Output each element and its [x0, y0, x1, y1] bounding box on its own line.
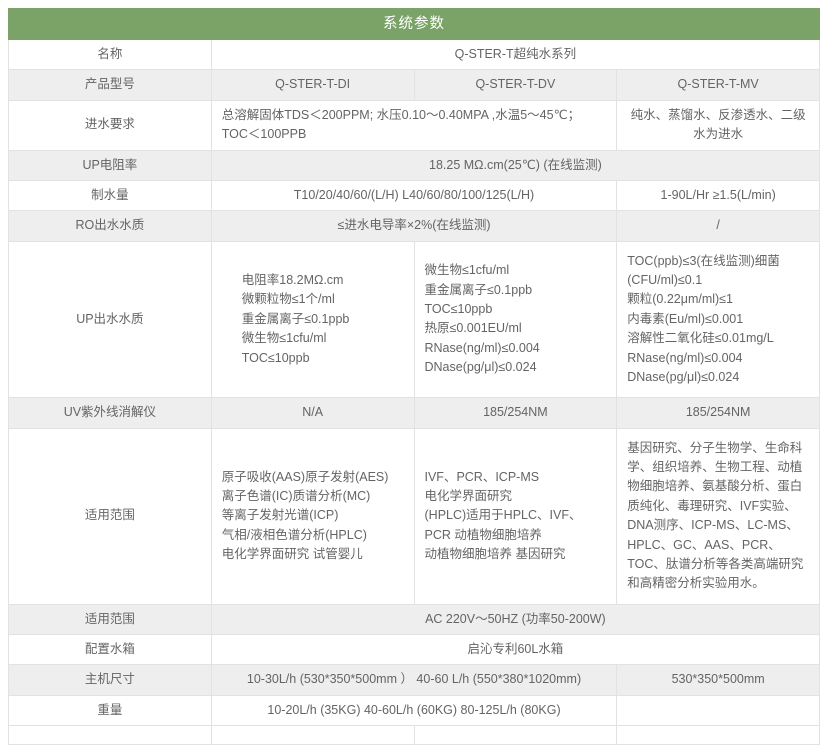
- cell-inflow-di-dv: 总溶解固体TDS＜200PPM; 水压0.10～0.40MPA ,水温5～45℃…: [211, 100, 617, 150]
- row-value-tank: 启沁专利60L水箱: [211, 635, 819, 665]
- row-label-tank: 配置水箱: [9, 635, 212, 665]
- system-parameters-table: 系统参数 名称 Q-STER-T超纯水系列 产品型号 Q-STER-T-DI Q…: [8, 8, 820, 745]
- partial-cell-dv: [414, 726, 617, 745]
- table-row: 名称 Q-STER-T超纯水系列: [9, 40, 820, 70]
- cell-model-di: Q-STER-T-DI: [211, 70, 414, 100]
- partial-cell-label: [9, 726, 212, 745]
- cell-scope-di: 原子吸收(AAS)原子发射(AES) 离子色谱(IC)质谱分析(MC) 等离子发…: [211, 428, 414, 604]
- row-label-name: 名称: [9, 40, 212, 70]
- table-row: RO出水水质 ≤进水电导率×2%(在线监测) /: [9, 211, 820, 241]
- cell-up-quality-mv: TOC(ppb)≤3(在线监测)细菌 (CFU/ml)≤0.1 颗粒(0.22μ…: [617, 241, 820, 398]
- cell-uv-dv: 185/254NM: [414, 398, 617, 428]
- table-title-row: 系统参数: [9, 9, 820, 40]
- row-value-power: AC 220V～50HZ (功率50-200W): [211, 604, 819, 634]
- row-label-weight: 重量: [9, 695, 212, 725]
- row-label-power: 适用范围: [9, 604, 212, 634]
- row-label-output: 制水量: [9, 180, 212, 210]
- cell-inflow-mv: 纯水、蒸馏水、反渗透水、二级水为进水: [617, 100, 820, 150]
- row-label-dimensions: 主机尺寸: [9, 665, 212, 695]
- table-row: 适用范围 原子吸收(AAS)原子发射(AES) 离子色谱(IC)质谱分析(MC)…: [9, 428, 820, 604]
- row-label-model: 产品型号: [9, 70, 212, 100]
- row-label-ro-quality: RO出水水质: [9, 211, 212, 241]
- cell-output-mv: 1-90L/Hr ≥1.5(L/min): [617, 180, 820, 210]
- cell-uv-mv: 185/254NM: [617, 398, 820, 428]
- cell-up-quality-dv: 微生物≤1cfu/ml 重金属离子≤0.1ppb TOC≤10ppb 热原≤0.…: [414, 241, 617, 398]
- row-label-scope: 适用范围: [9, 428, 212, 604]
- cell-ro-quality-mv: /: [617, 211, 820, 241]
- row-label-inflow: 进水要求: [9, 100, 212, 150]
- table-row: 主机尺寸 10-30L/h (530*350*500mm ） 40-60 L/h…: [9, 665, 820, 695]
- cell-model-dv: Q-STER-T-DV: [414, 70, 617, 100]
- cell-model-mv: Q-STER-T-MV: [617, 70, 820, 100]
- row-label-up-resistivity: UP电阻率: [9, 150, 212, 180]
- cell-scope-dv: IVF、PCR、ICP-MS 电化学界面研究 (HPLC)适用于HPLC、IVF…: [414, 428, 617, 604]
- cell-weight-mv: [617, 695, 820, 725]
- cell-uv-di: N/A: [211, 398, 414, 428]
- row-value-name: Q-STER-T超纯水系列: [211, 40, 819, 70]
- partial-cell-mv: [617, 726, 820, 745]
- table-row: UP电阻率 18.25 MΩ.cm(25℃) (在线监测): [9, 150, 820, 180]
- cell-up-quality-di: 电阻率18.2MΩ.cm 微颗粒物≤1个/ml 重金属离子≤0.1ppb 微生物…: [211, 241, 414, 398]
- row-label-uv: UV紫外线消解仪: [9, 398, 212, 428]
- table-row: UP出水水质 电阻率18.2MΩ.cm 微颗粒物≤1个/ml 重金属离子≤0.1…: [9, 241, 820, 398]
- table-row: 重量 10-20L/h (35KG) 40-60L/h (60KG) 80-12…: [9, 695, 820, 725]
- row-label-up-quality: UP出水水质: [9, 241, 212, 398]
- table-row: 制水量 T10/20/40/60/(L/H) L40/60/80/100/125…: [9, 180, 820, 210]
- row-value-up-resistivity: 18.25 MΩ.cm(25℃) (在线监测): [211, 150, 819, 180]
- cell-output-di-dv: T10/20/40/60/(L/H) L40/60/80/100/125(L/H…: [211, 180, 617, 210]
- cell-dimensions-di-dv: 10-30L/h (530*350*500mm ） 40-60 L/h (550…: [211, 665, 617, 695]
- table-row: 配置水箱 启沁专利60L水箱: [9, 635, 820, 665]
- table-row: UV紫外线消解仪 N/A 185/254NM 185/254NM: [9, 398, 820, 428]
- page-title: 系统参数: [9, 9, 820, 40]
- cell-weight-di-dv: 10-20L/h (35KG) 40-60L/h (60KG) 80-125L/…: [211, 695, 617, 725]
- cell-scope-mv: 基因研究、分子生物学、生命科学、组织培养、生物工程、动植物细胞培养、氨基酸分析、…: [617, 428, 820, 604]
- system-parameters-panel: 系统参数 名称 Q-STER-T超纯水系列 产品型号 Q-STER-T-DI Q…: [0, 0, 828, 745]
- cell-dimensions-mv: 530*350*500mm: [617, 665, 820, 695]
- table-row: 产品型号 Q-STER-T-DI Q-STER-T-DV Q-STER-T-MV: [9, 70, 820, 100]
- table-row-partial: [9, 726, 820, 745]
- cell-ro-quality-di-dv: ≤进水电导率×2%(在线监测): [211, 211, 617, 241]
- table-row: 进水要求 总溶解固体TDS＜200PPM; 水压0.10～0.40MPA ,水温…: [9, 100, 820, 150]
- table-row: 适用范围 AC 220V～50HZ (功率50-200W): [9, 604, 820, 634]
- partial-cell-di: [211, 726, 414, 745]
